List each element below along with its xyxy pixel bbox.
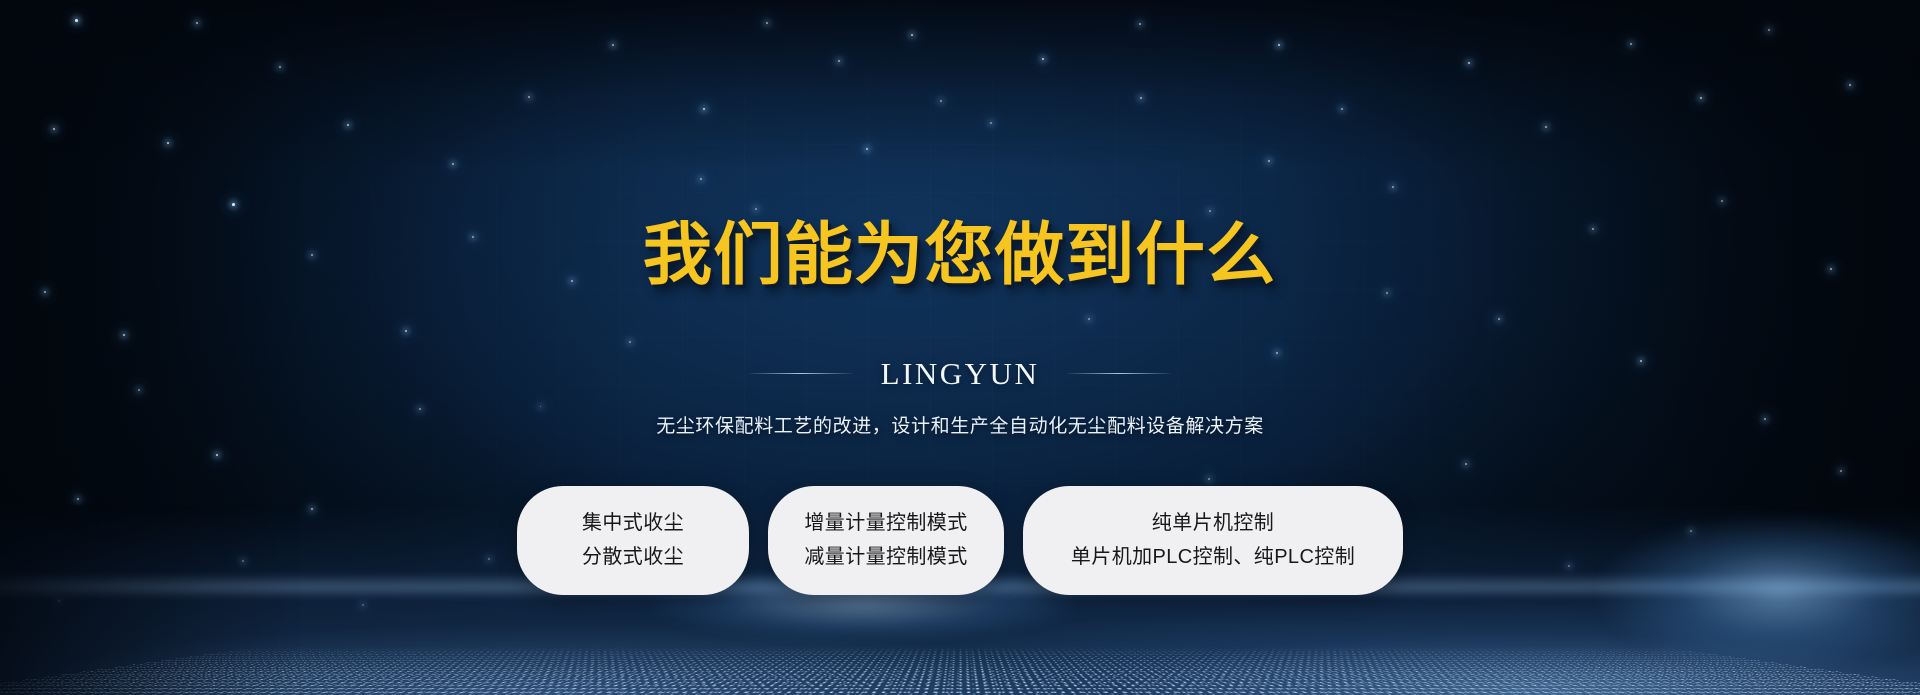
page-title: 我们能为您做到什么 [643,222,1276,290]
pill-line: 单片机加PLC控制、纯PLC控制 [1071,547,1355,568]
banner-content: 我们能为您做到什么 LINGYUN 无尘环保配料工艺的改进，设计和生产全自动化无… [0,0,1920,695]
pill-line: 集中式收尘 [582,513,684,534]
banner-description: 无尘环保配料工艺的改进，设计和生产全自动化无尘配料设备解决方案 [656,411,1264,438]
feature-pill-metering-mode[interactable]: 增量计量控制模式 减量计量控制模式 [768,486,1004,595]
feature-pill-control-system[interactable]: 纯单片机控制 单片机加PLC控制、纯PLC控制 [1023,486,1403,595]
pill-line: 纯单片机控制 [1152,513,1274,534]
divider-line-left [749,373,853,374]
feature-pill-group: 集中式收尘 分散式收尘 增量计量控制模式 减量计量控制模式 纯单片机控制 单片机… [517,486,1403,595]
divider-line-right [1067,373,1171,374]
hero-banner: 我们能为您做到什么 LINGYUN 无尘环保配料工艺的改进，设计和生产全自动化无… [0,0,1920,695]
brand-row: LINGYUN [749,356,1172,392]
pill-line: 增量计量控制模式 [804,513,967,534]
pill-line: 分散式收尘 [582,547,684,568]
pill-line: 减量计量控制模式 [804,547,967,568]
feature-pill-dust-collection[interactable]: 集中式收尘 分散式收尘 [517,486,749,595]
brand-name: LINGYUN [881,356,1040,392]
